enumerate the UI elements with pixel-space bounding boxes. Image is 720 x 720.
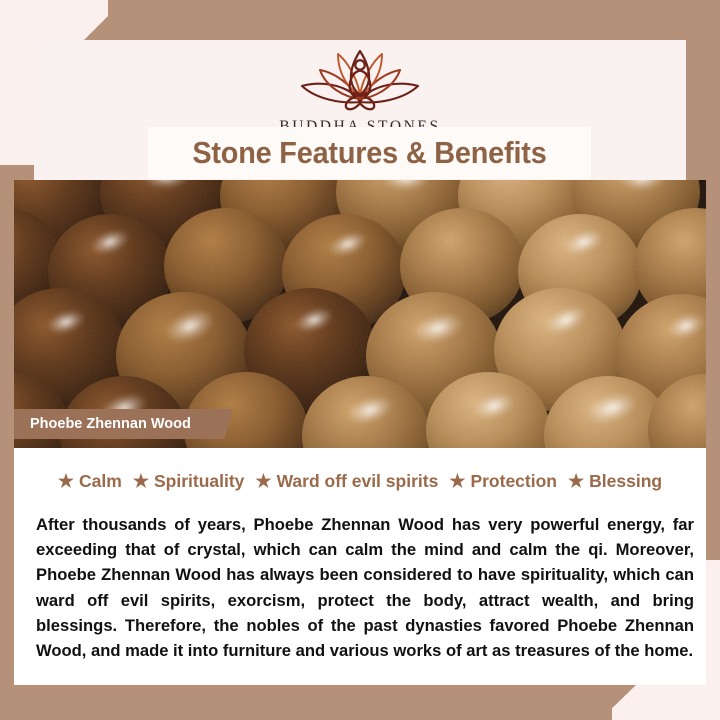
frame-bottom-band [0,685,612,720]
feature-item-protection: ★ Protection [449,471,557,492]
star-icon: ★ [568,472,584,490]
feature-label: Blessing [589,471,662,492]
feature-label: Calm [79,471,122,492]
frame-top-left-corner [84,0,124,40]
lotus-meditation-icon [285,42,435,114]
photo-caption: Phoebe Zhennan Wood [14,409,233,439]
star-icon: ★ [449,472,465,490]
feature-item-ward-off-evil-spirits: ★ Ward off evil spirits [255,471,438,492]
features-row: ★ Calm ★ Spirituality ★ Ward off evil sp… [14,464,706,498]
feature-label: Protection [470,471,557,492]
page-title: Stone Features & Benefits [192,135,546,171]
star-icon: ★ [255,472,271,490]
wood-beads-photo [14,180,706,448]
feature-item-calm: ★ Calm [58,471,122,492]
photo-graphic [14,180,706,448]
star-icon: ★ [133,472,149,490]
feature-label: Spirituality [154,471,244,492]
body-paragraph: After thousands of years, Phoebe Zhennan… [36,512,694,663]
star-icon: ★ [58,472,74,490]
feature-item-spirituality: ★ Spirituality [133,471,245,492]
title-banner: Stone Features & Benefits [148,127,591,179]
feature-label: Ward off evil spirits [277,471,439,492]
frame-top-right-band [108,0,720,40]
feature-item-blessing: ★ Blessing [568,471,662,492]
